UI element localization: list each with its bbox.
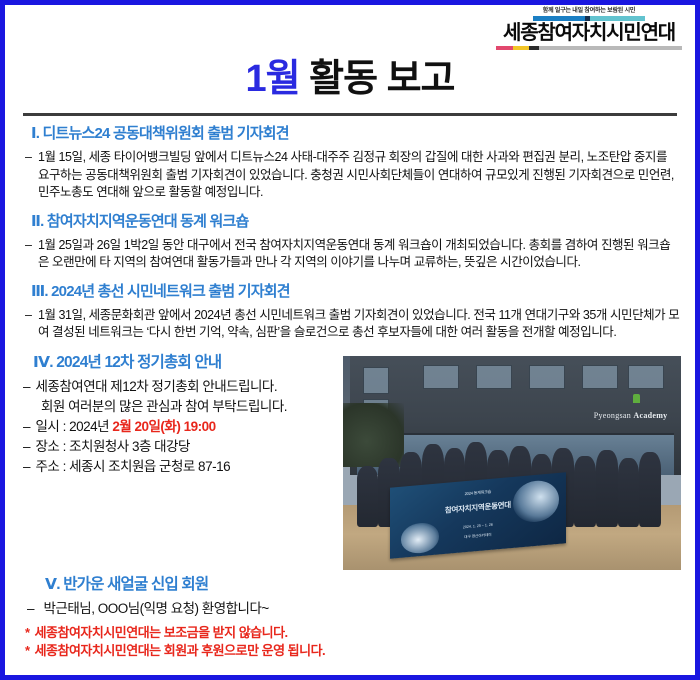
logo-color-bar (533, 16, 645, 21)
datetime-label: 일시 : 2024년 (36, 419, 113, 434)
section-4-intro-line-2: 회원 여러분의 많은 관심과 참여 부탁드립니다. (41, 397, 287, 416)
building-sign-light: Pyeongsan (594, 411, 631, 420)
section-4-datetime-row: – 일시 : 2024년 2월 20일(화) 19:00 (23, 417, 337, 436)
footnote-1: * 세종참여자치시민연대는 보조금을 받지 않습니다. (25, 624, 681, 642)
page-title-rest: 활동 보고 (300, 58, 455, 100)
footnote-2: * 세종참여자치시민연대는 회원과 후원으로만 운영 됩니다. (25, 642, 681, 660)
section-4-intro-line-1: 세종참여연대 제12차 정기총회 안내드립니다. (36, 377, 278, 396)
section-5-row: – 박근태님, OOO님(익명 요청) 환영합니다~ (23, 599, 681, 618)
section-4: Ⅳ. 2024년 12차 정기총회 안내 – 세종참여연대 제12차 정기총회 … (19, 352, 337, 477)
dash-bullet-icon: – (25, 237, 32, 272)
section-2-paragraph: – 1월 25일과 26일 1박2일 동안 대구에서 전국 참여자치지역운동연대… (25, 237, 681, 272)
section-3-heading: Ⅲ. 2024년 총선 시민네트워크 출범 기자회견 (31, 282, 681, 302)
dash-bullet-icon: – (23, 377, 31, 396)
section-1-body: 1월 15일, 세종 타이어뱅크빌딩 앞에서 디트뉴스24 사태-대주주 김정규… (38, 149, 681, 202)
logo-tagline: 함께 일구는 내일 참여하는 보람된 시민 (489, 7, 689, 15)
workshop-photo-wrap: Pyeongsan Academy (343, 352, 681, 570)
title-divider (23, 113, 677, 116)
footnotes: * 세종참여자치시민연대는 보조금을 받지 않습니다. * 세종참여자치시민연대… (25, 624, 681, 660)
section-2: Ⅱ. 참여자치지역운동연대 동계 워크숍 – 1월 25일과 26일 1박2일 … (19, 212, 681, 272)
section-4-intro: – 세종참여연대 제12차 정기총회 안내드립니다. (23, 377, 337, 396)
section-1-paragraph: – 1월 15일, 세종 타이어뱅크빌딩 앞에서 디트뉴스24 사태-대주주 김… (25, 149, 681, 202)
dash-bullet-icon: – (25, 149, 32, 202)
section-4-address-row: – 주소 : 세종시 조치원읍 군청로 87-16 (23, 457, 337, 476)
workshop-group-photo: Pyeongsan Academy (343, 356, 681, 570)
section-2-heading: Ⅱ. 참여자치지역운동연대 동계 워크숍 (31, 212, 681, 232)
organization-logo: 함께 일구는 내일 참여하는 보람된 시민 세종참여자치시민연대 (489, 7, 689, 50)
section-1: Ⅰ. 디트뉴스24 공동대책위원회 출범 기자회견 – 1월 15일, 세종 타… (19, 124, 681, 202)
organization-name: 세종참여자치시민연대 (489, 22, 689, 44)
asterisk-icon: * (25, 642, 30, 660)
section-5: Ⅴ. 반가운 새얼굴 신입 회원 – 박근태님, OOO님(익명 요청) 환영합… (19, 574, 681, 618)
building-sign: Pyeongsan Academy (594, 411, 668, 420)
page-header: 함께 일구는 내일 참여하는 보람된 시민 세종참여자치시민연대 (5, 5, 695, 53)
academy-logo-icon (633, 394, 640, 403)
dash-bullet-icon: – (23, 457, 31, 476)
section-3-body: 1월 31일, 세종문화회관 앞에서 2024년 총선 시민네트워크 출범 기자… (38, 307, 681, 342)
section-4-heading: Ⅳ. 2024년 12차 정기총회 안내 (33, 352, 337, 373)
dash-bullet-icon: – (27, 599, 35, 618)
section-3-paragraph: – 1월 31일, 세종문화회관 앞에서 2024년 총선 시민네트워크 출범 … (25, 307, 681, 342)
building-sign-bold: Academy (633, 411, 667, 420)
section-2-body: 1월 25일과 26일 1박2일 동안 대구에서 전국 참여자치지역운동연대 동… (38, 237, 681, 272)
page-title-month: 1월 (245, 58, 299, 100)
page-title: 1월 활동 보고 (245, 57, 454, 101)
dash-bullet-icon: – (25, 307, 32, 342)
section-4-intro-2: 회원 여러분의 많은 관심과 참여 부탁드립니다. (23, 397, 337, 416)
section-4-datetime: 일시 : 2024년 2월 20일(화) 19:00 (36, 417, 216, 436)
footnote-1-text: 세종참여자치시민연대는 보조금을 받지 않습니다. (35, 624, 288, 642)
section-4-address: 주소 : 세종시 조치원읍 군청로 87-16 (36, 457, 231, 476)
newsletter-page: 함께 일구는 내일 참여하는 보람된 시민 세종참여자치시민연대 1월 활동 보… (0, 0, 700, 680)
section-5-heading: Ⅴ. 반가운 새얼굴 신입 회원 (45, 574, 681, 595)
dash-bullet-icon: – (23, 437, 31, 456)
datetime-value: 2월 20일(화) 19:00 (112, 419, 215, 434)
section-5-body: 박근태님, OOO님(익명 요청) 환영합니다~ (44, 599, 269, 618)
section-1-heading: Ⅰ. 디트뉴스24 공동대책위원회 출범 기자회견 (31, 124, 681, 144)
section-4-place: 장소 : 조치원청사 3층 대강당 (36, 437, 190, 456)
section-4-place-row: – 장소 : 조치원청사 3층 대강당 (23, 437, 337, 456)
dash-bullet-icon: – (23, 417, 31, 436)
logo-footer-bar (496, 46, 682, 50)
footnote-2-text: 세종참여자치시민연대는 회원과 후원으로만 운영 됩니다. (35, 642, 326, 660)
page-content: Ⅰ. 디트뉴스24 공동대책위원회 출범 기자회견 – 1월 15일, 세종 타… (5, 124, 695, 660)
section-3: Ⅲ. 2024년 총선 시민네트워크 출범 기자회견 – 1월 31일, 세종문… (19, 282, 681, 342)
section-4-and-photo: Ⅳ. 2024년 12차 정기총회 안내 – 세종참여연대 제12차 정기총회 … (19, 352, 681, 570)
workshop-banner: 2024 동계워크숍 참여자치지역운동연대 2024. 1. 25 ~ 1. 2… (390, 472, 566, 558)
asterisk-icon: * (25, 624, 30, 642)
page-title-wrap: 1월 활동 보고 (5, 53, 695, 107)
